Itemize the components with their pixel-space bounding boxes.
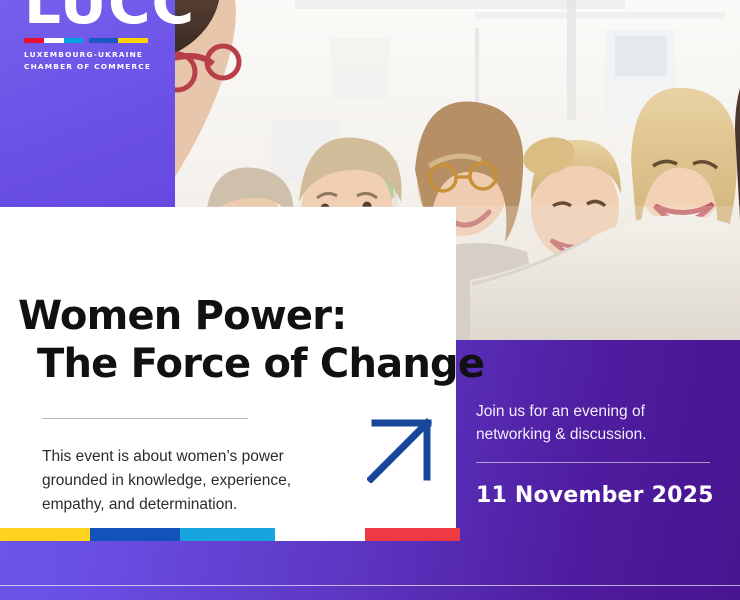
title-line-2: The Force of Change	[18, 340, 440, 388]
logo-subtitle-line2: CHAMBER OF COMMERCE	[24, 62, 152, 73]
page-title: Women Power: The Force of Change	[18, 292, 440, 388]
title-divider	[42, 418, 248, 420]
headline-card-content: Women Power: The Force of Change This ev…	[18, 265, 440, 533]
brand-panel: LUCC LUXEMBOURG-UKRAINE CHAMBER OF COMME…	[0, 0, 175, 208]
join-line-2: networking & discussion.	[476, 423, 714, 446]
stripe-segment-red	[365, 528, 460, 541]
info-divider	[476, 462, 710, 463]
stripe-segment-white	[275, 528, 365, 541]
logo-subtitle-line1: LUXEMBOURG-UKRAINE	[24, 50, 152, 61]
stripe-segment-yellow	[0, 528, 90, 541]
lucc-logo[interactable]: LUCC LUXEMBOURG-UKRAINE CHAMBER OF COMME…	[24, 0, 152, 72]
logo-flag-bars	[24, 38, 148, 43]
event-date: 11 November 2025	[476, 483, 714, 508]
arrow-svg	[367, 415, 435, 483]
event-poster: LUCC LUXEMBOURG-UKRAINE CHAMBER OF COMME…	[0, 0, 740, 600]
accent-stripe	[0, 528, 460, 541]
ukraine-flag-icon	[89, 38, 149, 43]
event-description: This event is about women’s power ground…	[42, 445, 314, 517]
logo-wordmark: LUCC	[24, 0, 152, 32]
event-info-panel: Join us for an evening of networking & d…	[456, 340, 740, 541]
bottom-hairline	[0, 585, 740, 586]
luxembourg-flag-icon	[24, 38, 84, 43]
join-line-1: Join us for an evening of	[476, 400, 714, 423]
event-info-content: Join us for an evening of networking & d…	[476, 400, 714, 508]
diagonal-arrow-up-right-icon[interactable]	[367, 415, 435, 483]
stripe-segment-blue	[90, 528, 180, 541]
stripe-segment-cyan	[180, 528, 275, 541]
title-line-1: Women Power:	[18, 292, 440, 340]
